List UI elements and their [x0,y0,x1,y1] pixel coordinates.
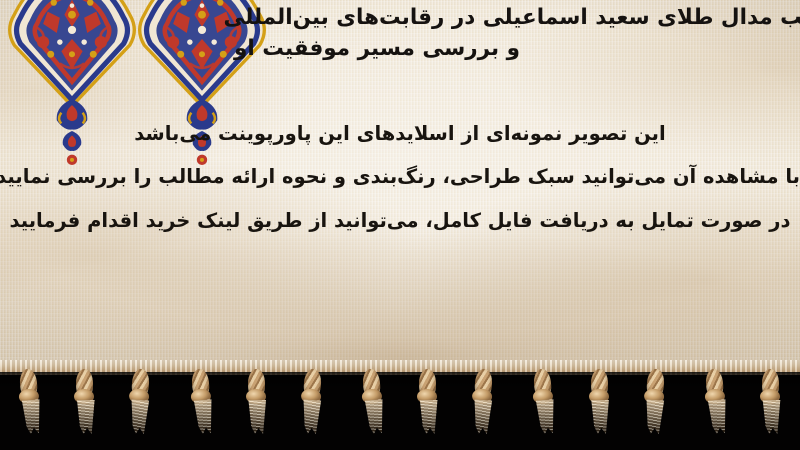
tassel-strands [20,399,43,434]
tassel-strands [192,399,215,434]
body-line-2: با مشاهده آن می‌توانید سبک طراحی، رنگ‌بن… [0,155,800,198]
tassel-strands [706,399,729,434]
tassel-strands [642,399,665,434]
tassel-strands [418,400,439,434]
body-line-1: این تصویر نمونه‌ای از اسلایدهای این پاور… [0,112,800,155]
presentation-slide: ابی کسب مدال طلای سعید اسماعیلی در رقابت… [0,0,800,450]
tassel-strands [363,399,386,434]
tassel-strands [761,400,782,434]
carpet-fringe [0,360,800,450]
tassel-strands [75,400,96,434]
tassel-strands [247,400,268,434]
tassel-strands [590,400,611,434]
slide-title-line-1: ابی کسب مدال طلای سعید اسماعیلی در رقابت… [0,2,800,33]
tassel-strands [471,399,494,434]
tassel-strands [535,399,558,434]
tassel-strands [299,399,322,434]
tassel-strands [128,399,151,434]
slide-title-line-2: و بررسی مسیر موفقیت او [0,33,754,64]
body-line-3: در صورت تمایل به دریافت فایل کامل، می‌تو… [0,199,800,242]
fringe-shadow [0,372,800,390]
slide-body-text: این تصویر نمونه‌ای از اسلایدهای این پاور… [0,112,800,242]
slide-title: ابی کسب مدال طلای سعید اسماعیلی در رقابت… [0,2,800,64]
